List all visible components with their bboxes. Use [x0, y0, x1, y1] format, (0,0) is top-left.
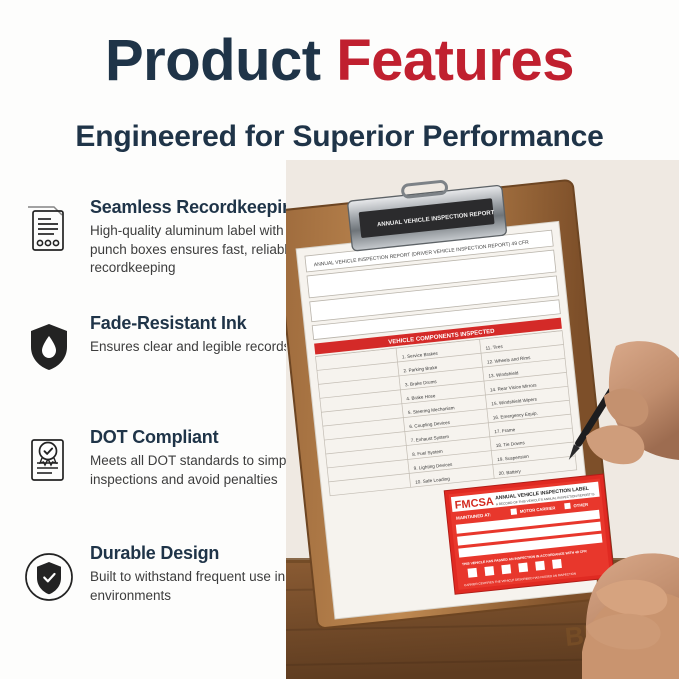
fmcsa-sticker: FMCSA ANNUAL VEHICLE INSPECTION LABEL A …: [444, 474, 614, 594]
page-subtitle: Engineered for Superior Performance: [0, 117, 679, 157]
document-check-badge-icon: [18, 430, 80, 492]
page-title-part2: Features: [336, 28, 574, 93]
product-features-page: Product Features Engineered for Superior…: [0, 0, 679, 679]
shield-check-icon: [18, 546, 80, 608]
page-title: Product Features: [0, 28, 679, 94]
product-photo: BUCK U ANNUAL VEHICLE INSPECTION REPORT …: [286, 160, 679, 679]
document-lines-icon: [18, 200, 80, 262]
shield-droplet-icon: [18, 316, 80, 378]
page-title-part1: Product: [105, 28, 336, 93]
